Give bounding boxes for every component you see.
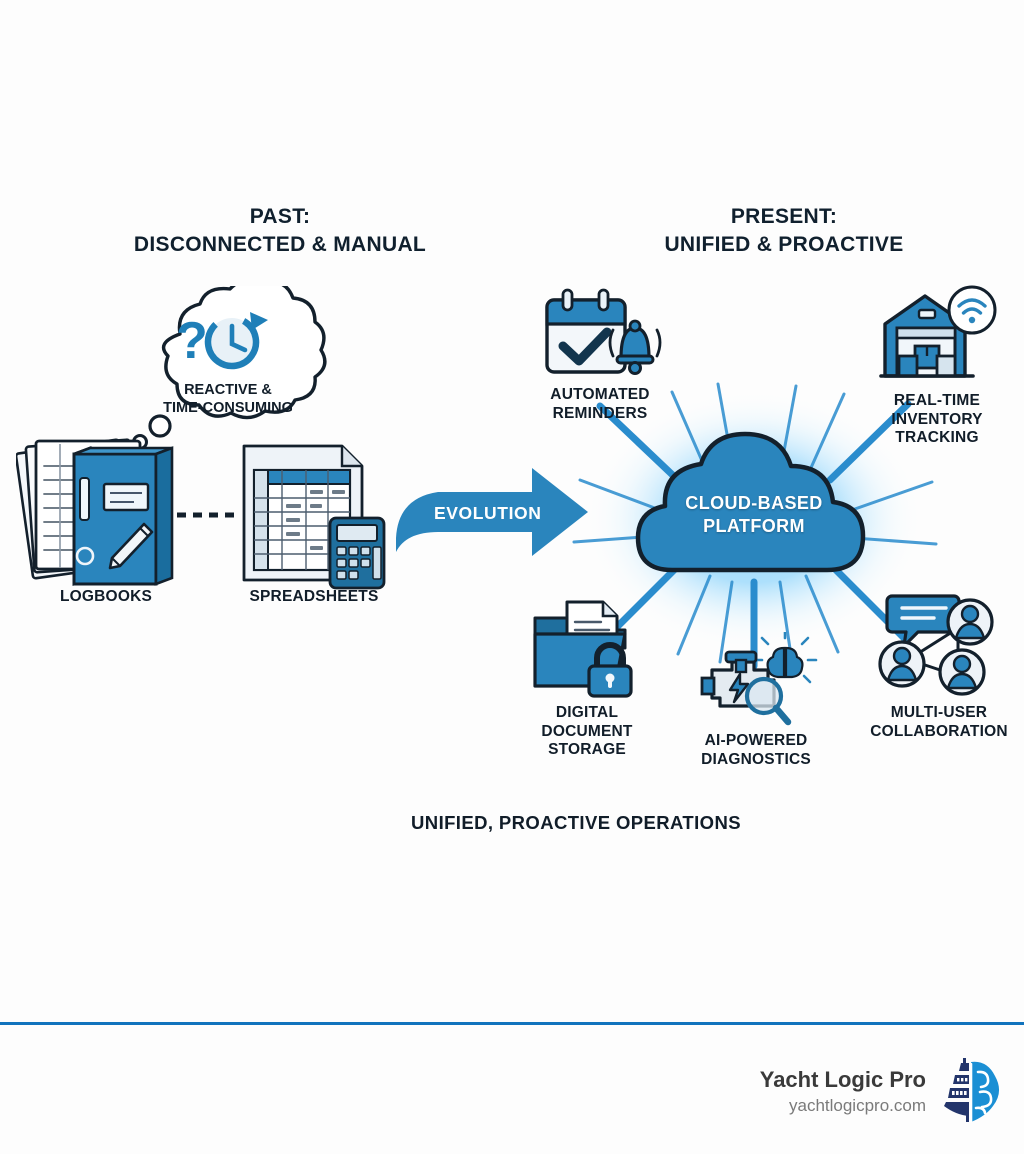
- user-avatar-bottom-right: [940, 650, 984, 694]
- node-real-time-inventory: REAL-TIME INVENTORY TRACKING: [862, 284, 1012, 448]
- present-caption: UNIFIED, PROACTIVE OPERATIONS: [128, 812, 1024, 834]
- bubble-line-2: TIME-CONSUMING: [163, 400, 293, 416]
- node-label-real-time-inventory: REAL-TIME INVENTORY TRACKING: [862, 392, 1012, 448]
- past-items-connector: [176, 505, 240, 510]
- footer-brand-block: Yacht Logic Pro yachtlogicpro.com: [760, 1058, 1002, 1126]
- past-section-title: PAST: DISCONNECTED & MANUAL: [0, 203, 560, 258]
- engine-brain-magnifier-icon: [692, 632, 820, 728]
- node-label-automated-reminders: AUTOMATED REMINDERS: [512, 386, 688, 423]
- calendar-check-bell-icon: [535, 286, 665, 382]
- wifi-badge-icon: [949, 287, 995, 333]
- present-caption-wrapper: UNIFIED, PROACTIVE OPERATIONS: [0, 812, 1024, 834]
- footer-website-url[interactable]: yachtlogicpro.com: [760, 1095, 926, 1117]
- footer: Yacht Logic Pro yachtlogicpro.com: [0, 1040, 1024, 1154]
- evolution-label: EVOLUTION: [434, 503, 542, 524]
- logbooks-label: LOGBOOKS: [16, 588, 196, 607]
- node-digital-document-storage: DIGITAL DOCUMENT STORAGE: [508, 596, 666, 760]
- bubble-line-1: REACTIVE &: [184, 382, 272, 398]
- present-section-title: PRESENT: UNIFIED & PROACTIVE: [544, 203, 1024, 258]
- question-mark-icon: ?: [176, 312, 208, 370]
- node-automated-reminders: AUTOMATED REMINDERS: [512, 286, 688, 423]
- binder-icon: [74, 448, 172, 584]
- svg-text:?: ?: [176, 312, 208, 370]
- footer-text-block: Yacht Logic Pro yachtlogicpro.com: [760, 1067, 926, 1116]
- user-avatar-top-right: [948, 600, 992, 644]
- warehouse-wifi-icon: [877, 284, 997, 388]
- spreadsheets-label: SPREADSHEETS: [238, 588, 390, 607]
- footer-brand-name: Yacht Logic Pro: [760, 1067, 926, 1092]
- yacht-brain-logo: [940, 1058, 1002, 1126]
- logo-yacht-half: [944, 1058, 969, 1122]
- infographic-canvas: PAST: DISCONNECTED & MANUAL ? REACTIVE &…: [0, 0, 1024, 1154]
- node-ai-powered-diagnostics: AI-POWERED DIAGNOSTICS: [676, 632, 836, 769]
- node-label-digital-document-storage: DIGITAL DOCUMENT STORAGE: [508, 704, 666, 760]
- node-label-ai-powered-diagnostics: AI-POWERED DIAGNOSTICS: [676, 732, 836, 769]
- folder-document-lock-icon: [527, 596, 647, 700]
- users-network-chat-icon: [876, 588, 1002, 700]
- logbooks-icon: Logbooks: [16, 432, 196, 592]
- calculator-icon: [330, 518, 384, 588]
- footer-divider: [0, 1022, 1024, 1025]
- node-label-multi-user-collaboration: MULTI-USER COLLABORATION: [860, 704, 1018, 741]
- node-multi-user-collaboration: MULTI-USER COLLABORATION: [860, 588, 1018, 741]
- user-avatar-left: [880, 642, 924, 686]
- spreadsheets-icon: [238, 440, 390, 592]
- magnifier-icon: [747, 679, 788, 722]
